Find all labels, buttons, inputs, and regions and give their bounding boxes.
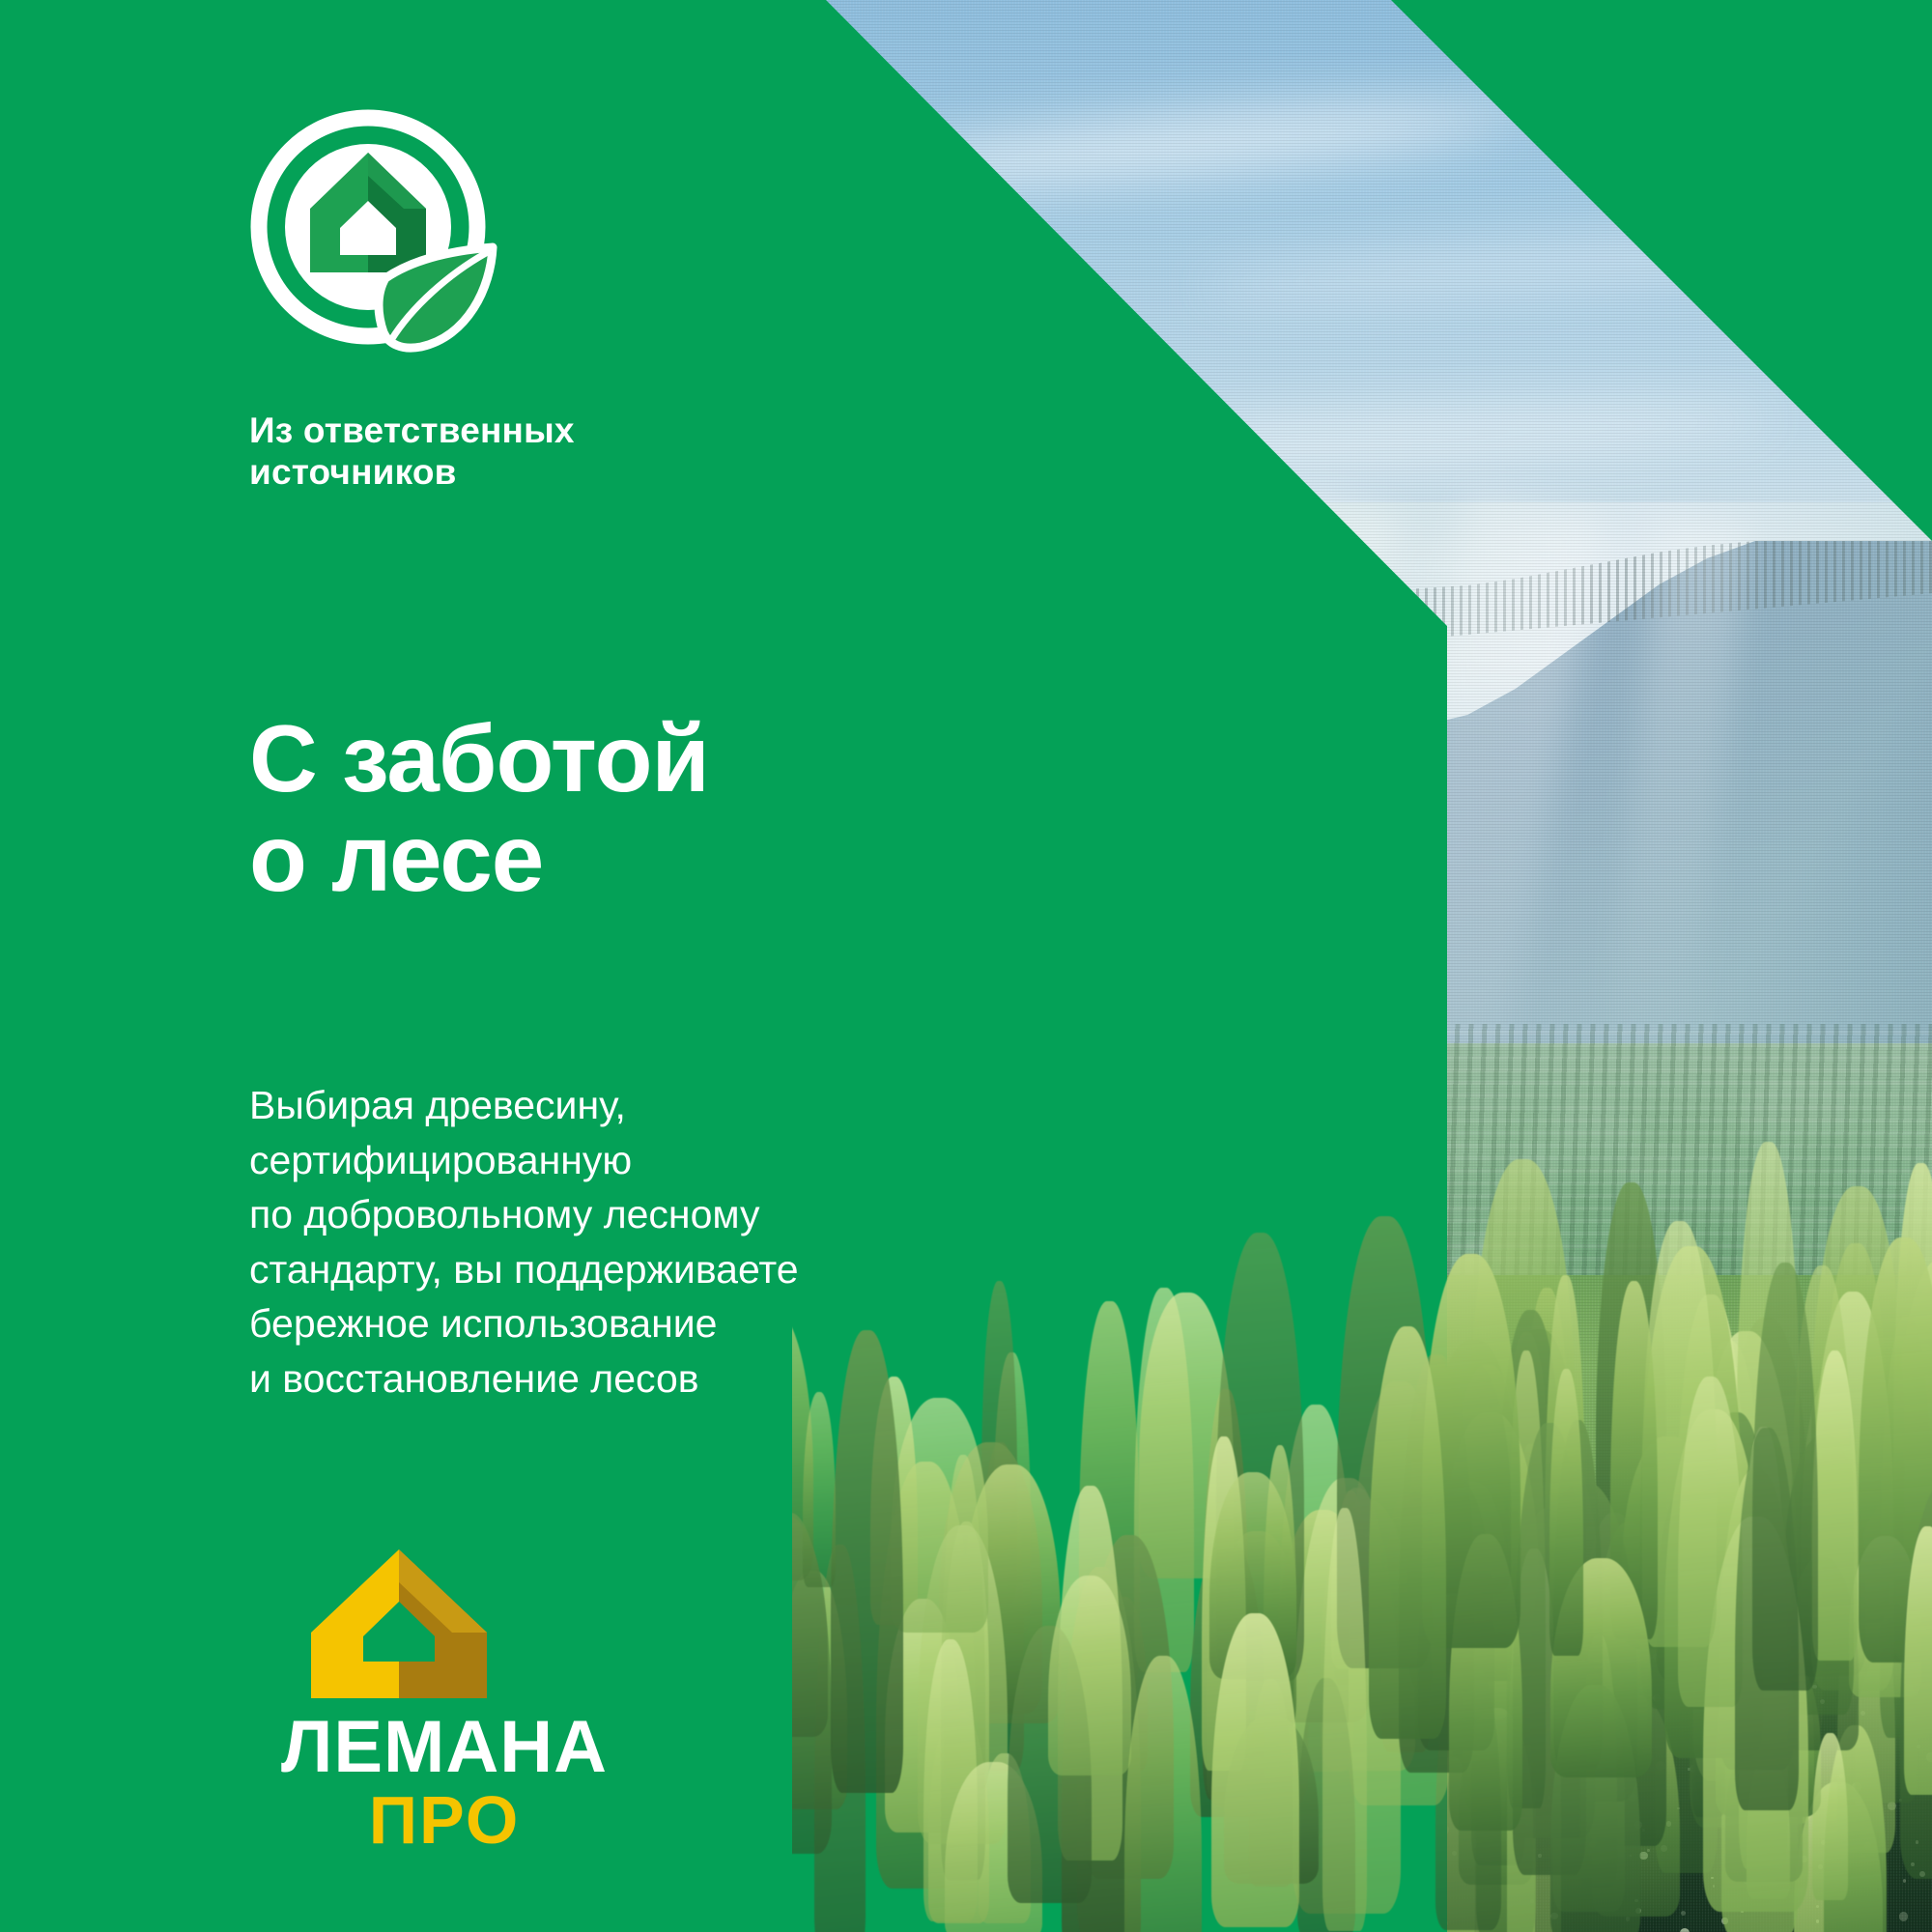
- svg-text:ЛЕМАНА: ЛЕМАНА: [281, 1712, 608, 1788]
- svg-text:ПРО: ПРО: [369, 1782, 521, 1857]
- lemana-house-icon: [307, 1546, 491, 1700]
- poster: Из ответственных источников С заботой о …: [0, 0, 1932, 1932]
- badge-tagline: Из ответственных источников: [249, 411, 867, 494]
- lemana-pro-wordmark: ЛЕМАНА ПРО: [241, 1712, 647, 1857]
- lemana-pro-logo: ЛЕМАНА ПРО: [241, 1546, 647, 1857]
- eco-house-leaf-badge-icon: [249, 108, 500, 359]
- page-title: С заботой о лесе: [249, 709, 1119, 908]
- body-copy: Выбирая древесину, сертифицированную по …: [249, 1078, 1051, 1406]
- poster-content: Из ответственных источников С заботой о …: [0, 0, 1932, 1932]
